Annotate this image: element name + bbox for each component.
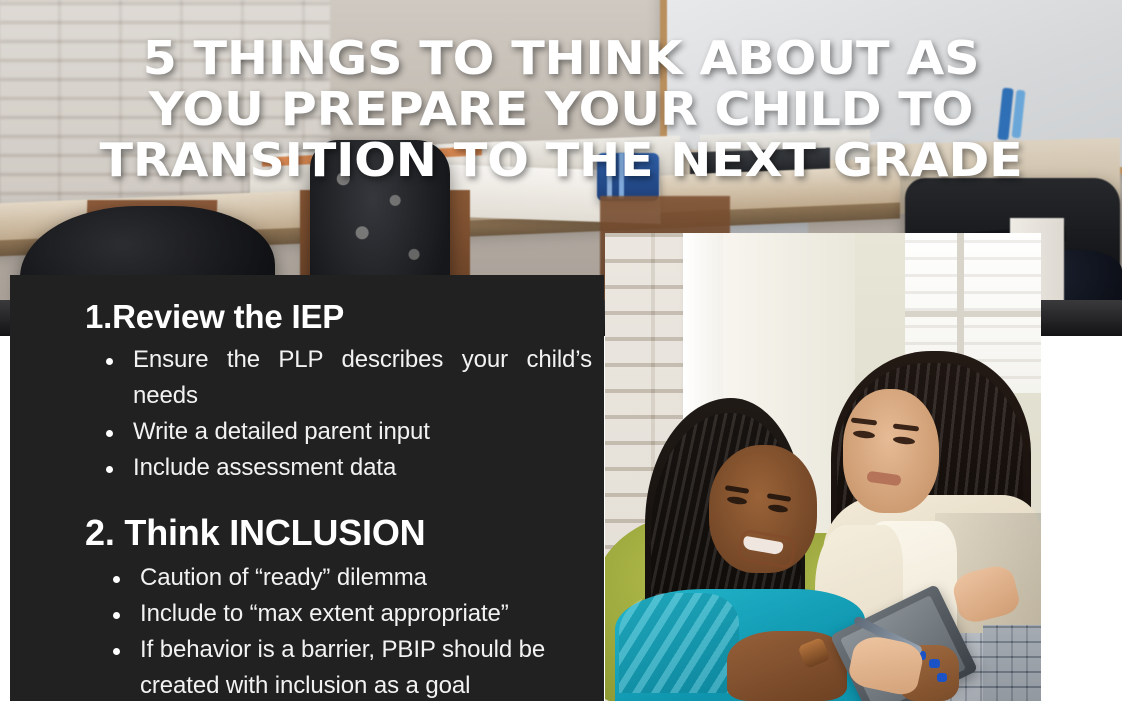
list-item: Include assessment data xyxy=(100,450,592,486)
slide-title: 5 THINGS TO THINK ABOUT AS YOU PREPARE Y… xyxy=(0,33,1122,186)
blue-nail-3 xyxy=(937,673,947,682)
section-1-bullet-list: Ensure the PLP describes your child’s ne… xyxy=(85,342,592,486)
bullet-text: Write a detailed parent input xyxy=(133,418,430,445)
list-item: Include to “max extent appropriate” xyxy=(107,596,592,632)
section-2-bullet-list: Caution of “ready” dilemma Include to “m… xyxy=(85,560,592,701)
section-review-the-iep: 1.Review the IEP Ensure the PLP describe… xyxy=(85,298,592,486)
slide-canvas: 5 THINGS TO THINK ABOUT AS YOU PREPARE Y… xyxy=(0,0,1122,701)
list-item: Write a detailed parent input xyxy=(100,414,592,450)
bullet-text: Include to “max extent appropriate” xyxy=(140,600,509,627)
standing-woman-plaid-trousers-right xyxy=(983,625,1041,701)
section-2-heading: 2. Think INCLUSION xyxy=(85,512,592,554)
list-item: Ensure the PLP describes your child’s ne… xyxy=(100,342,592,414)
seated-woman-arm xyxy=(727,631,847,701)
two-women-photo xyxy=(605,233,1041,701)
section-1-heading: 1.Review the IEP xyxy=(102,298,592,336)
content-panel-inner: 1.Review the IEP Ensure the PLP describe… xyxy=(10,275,604,701)
standing-woman-face xyxy=(843,389,939,513)
content-panel: 1.Review the IEP Ensure the PLP describe… xyxy=(10,275,604,701)
bullet-text: Caution of “ready” dilemma xyxy=(140,564,427,591)
list-item: If behavior is a barrier, PBIP should be… xyxy=(107,632,592,701)
blue-nail-2 xyxy=(929,659,940,668)
window-mullion-horizontal xyxy=(905,311,1041,317)
bullet-text: Ensure the PLP describes your child’s ne… xyxy=(133,346,592,409)
bullet-text: Include assessment data xyxy=(133,454,396,481)
section-think-inclusion: 2. Think INCLUSION Caution of “ready” di… xyxy=(85,512,592,701)
seated-woman-ruffle-sleeve xyxy=(619,593,739,693)
list-item: Caution of “ready” dilemma xyxy=(107,560,592,596)
bullet-text: If behavior is a barrier, PBIP should be… xyxy=(140,636,545,699)
